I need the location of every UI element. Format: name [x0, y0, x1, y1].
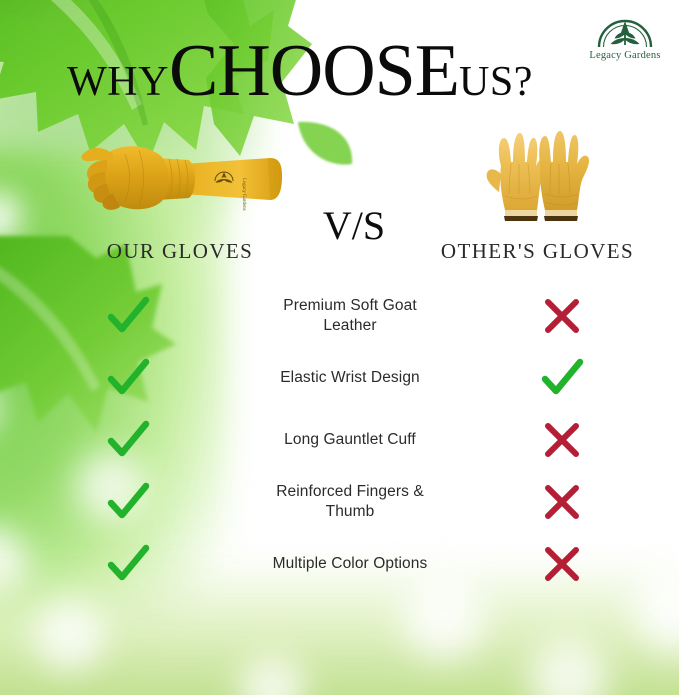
check-icon [539, 355, 585, 401]
cross-icon [539, 479, 585, 525]
check-icon [105, 479, 151, 525]
page-title: WHYCHOOSEUS? [0, 34, 600, 108]
tan-short-gloves-image [485, 128, 595, 228]
title-word-why: WHY [67, 59, 169, 105]
ours-mark-cell [0, 541, 255, 587]
versus-label: V/S [300, 202, 408, 249]
ours-mark-cell [0, 479, 255, 525]
product-comparison-row: Legacy Gardens OUR GLOVES V/S [0, 122, 679, 262]
arch-plant-logo-icon [596, 14, 654, 48]
ours-mark-cell [0, 355, 255, 401]
check-icon [105, 417, 151, 463]
feature-comparison-table: Premium Soft GoatLeatherElastic Wrist De… [0, 285, 679, 595]
others-gloves-caption: OTHER'S GLOVES [430, 239, 645, 264]
check-icon [105, 293, 151, 339]
feature-label: Premium Soft GoatLeather [255, 296, 445, 336]
svg-text:Legacy Gardens: Legacy Gardens [241, 178, 246, 211]
title-word-us: US? [459, 59, 533, 105]
feature-row: Elastic Wrist Design [0, 347, 679, 409]
cross-icon [539, 293, 585, 339]
feature-label: Elastic Wrist Design [255, 368, 445, 388]
feature-row: Multiple Color Options [0, 533, 679, 595]
our-gloves-column: Legacy Gardens OUR GLOVES [40, 122, 320, 262]
title-word-choose: CHOOSE [169, 30, 459, 112]
cross-icon [539, 417, 585, 463]
check-icon [105, 355, 151, 401]
check-icon [105, 541, 151, 587]
feature-row: Reinforced Fingers &Thumb [0, 471, 679, 533]
ours-mark-cell [0, 293, 255, 339]
others-gloves-column: OTHER'S GLOVES [430, 122, 645, 262]
feature-label: Multiple Color Options [255, 554, 445, 574]
feature-label: Long Gauntlet Cuff [255, 430, 445, 450]
header: WHYCHOOSEUS? Legacy Gardens [0, 0, 679, 120]
others-mark-cell [445, 479, 679, 525]
brand-logo: Legacy Gardens [579, 14, 671, 61]
others-mark-cell [445, 355, 679, 401]
yellow-gauntlet-gloves-image: Legacy Gardens [65, 130, 300, 228]
others-mark-cell [445, 541, 679, 587]
our-gloves-caption: OUR GLOVES [40, 239, 320, 264]
feature-row: Long Gauntlet Cuff [0, 409, 679, 471]
others-mark-cell [445, 417, 679, 463]
feature-label: Reinforced Fingers &Thumb [255, 482, 445, 522]
feature-row: Premium Soft GoatLeather [0, 285, 679, 347]
ours-mark-cell [0, 417, 255, 463]
others-mark-cell [445, 293, 679, 339]
logo-brand-name: Legacy Gardens [579, 50, 671, 61]
cross-icon [539, 541, 585, 587]
versus-column: V/S [300, 122, 408, 262]
